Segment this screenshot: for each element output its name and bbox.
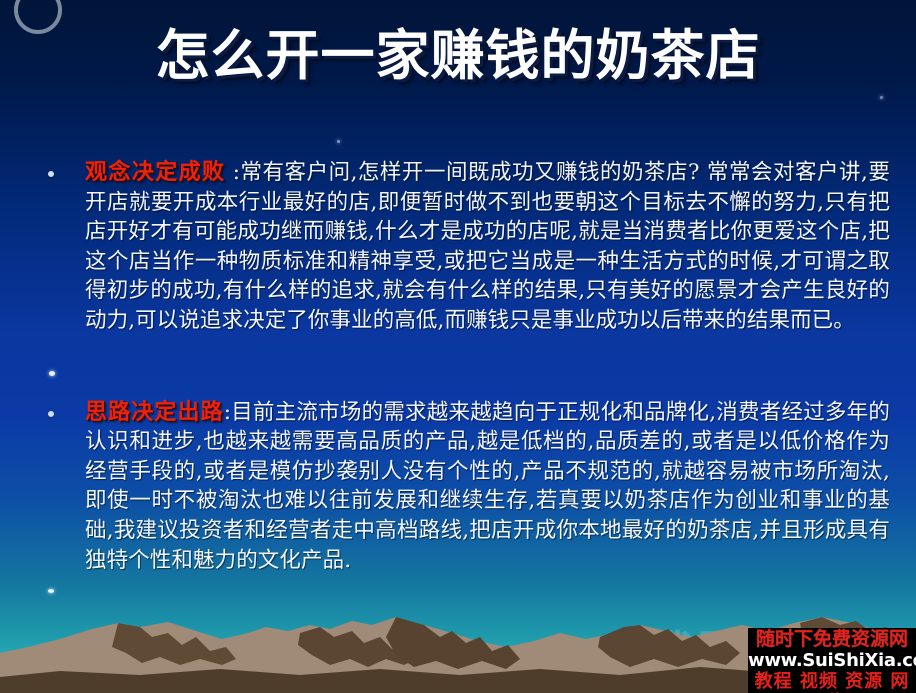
- watermark-site-name: 随时下免费资源网: [748, 629, 916, 650]
- page-title: 怎么开一家赚钱的奶茶店: [156, 28, 761, 85]
- watermark-url[interactable]: www.SuiShiXia.com: [748, 650, 916, 671]
- paragraph-1-text: :常有客户问,怎样开一间既成功又赚钱的奶茶店? 常常会对客户讲,要开店就要开成本…: [85, 160, 890, 333]
- site-watermark: 随时下免费资源网 www.SuiShiXia.com 教程 视频 资源 网赚: [748, 628, 916, 693]
- mountain-shadow-center: [386, 617, 520, 669]
- bullet-block-2: 思路决定出路:目前主流市场的需求越来越趋向于正规化和品牌化,消费者经过多年的认识…: [0, 398, 916, 576]
- bullet-dot-icon: [48, 171, 54, 177]
- bullet-dot-icon: [48, 411, 54, 417]
- star-decoration: [880, 96, 883, 99]
- paragraph-2: 思路决定出路:目前主流市场的需求越来越趋向于正规化和品牌化,消费者经过多年的认识…: [85, 398, 890, 576]
- slide-title: 怎么开一家赚钱的奶茶店: [0, 28, 916, 85]
- star-decoration: [48, 589, 54, 593]
- paragraph-1: 观念决定成败 :常有客户问,怎样开一间既成功又赚钱的奶茶店? 常常会对客户讲,要…: [85, 158, 890, 336]
- paragraph-2-lead: 思路决定出路: [85, 400, 224, 425]
- watermark-tags: 教程 视频 资源 网赚: [748, 671, 916, 693]
- bullet-block-1: 观念决定成败 :常有客户问,怎样开一间既成功又赚钱的奶茶店? 常常会对客户讲,要…: [0, 158, 916, 336]
- star-decoration: [337, 140, 340, 143]
- presentation-slide: 怎么开一家赚钱的奶茶店 观念决定成败 :常有客户问,怎样开一间既成功又赚钱的奶茶…: [0, 0, 916, 693]
- paragraph-2-text: :目前主流市场的需求越来越趋向于正规化和品牌化,消费者经过多年的认识和进步,也越…: [85, 400, 890, 573]
- slide-body: 观念决定成败 :常有客户问,怎样开一间既成功又赚钱的奶茶店? 常常会对客户讲,要…: [0, 158, 916, 575]
- paragraph-1-lead: 观念决定成败: [85, 160, 225, 185]
